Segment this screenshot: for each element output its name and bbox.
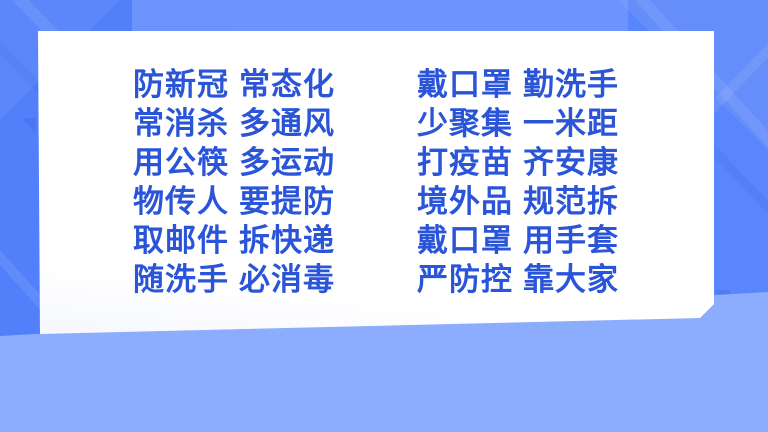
slogan-phrase: 靠大家	[523, 262, 619, 298]
slogan-phrase: 用手套	[523, 223, 619, 259]
slogan-phrase: 打疫苗	[417, 145, 513, 181]
slogan-left-column: 常消杀多通风	[128, 109, 340, 140]
slogan-phrase: 齐安康	[523, 145, 619, 181]
slogan-right-column: 少聚集一米距	[412, 109, 624, 140]
slogan-phrase: 多运动	[239, 145, 335, 181]
slogan-right-column: 境外品规范拆	[412, 187, 624, 218]
slogan-right-column: 戴口罩用手套	[412, 226, 624, 257]
slogan-phrase: 要提防	[239, 184, 335, 220]
slogan-phrase: 取邮件	[133, 223, 229, 259]
slogan-phrase: 戴口罩	[417, 67, 513, 103]
slogan-left-column: 物传人要提防	[128, 187, 340, 218]
slogan-left-column: 随洗手必消毒	[128, 265, 340, 296]
slogan-row: 物传人要提防 境外品规范拆	[38, 183, 714, 222]
slogan-row: 随洗手必消毒 严防控靠大家	[38, 261, 714, 300]
slogan-right-column: 戴口罩勤洗手	[412, 70, 624, 101]
slogan-phrase: 常态化	[239, 67, 335, 103]
slogan-right-column: 严防控靠大家	[412, 265, 624, 296]
poster-slide: 防新冠常态化 戴口罩勤洗手 常消杀多通风 少聚集一米距 用公筷多运动 打疫苗齐安…	[0, 0, 768, 432]
slogan-phrase: 拆快递	[239, 223, 335, 259]
slogan-left-column: 防新冠常态化	[128, 70, 340, 101]
slogan-phrase: 戴口罩	[417, 223, 513, 259]
slogan-phrase: 一米距	[523, 106, 619, 142]
slogan-phrase: 常消杀	[133, 106, 229, 142]
slogan-phrase: 防新冠	[133, 67, 229, 103]
slogan-phrase: 用公筷	[133, 145, 229, 181]
slogan-phrase: 随洗手	[133, 262, 229, 298]
slogan-row: 常消杀多通风 少聚集一米距	[38, 105, 714, 144]
slogan-left-column: 用公筷多运动	[128, 148, 340, 179]
slogan-phrase: 物传人	[133, 184, 229, 220]
slogan-phrase: 多通风	[239, 106, 335, 142]
slogan-phrase: 少聚集	[417, 106, 513, 142]
slogan-row: 用公筷多运动 打疫苗齐安康	[38, 144, 714, 183]
slogan-phrase: 勤洗手	[523, 67, 619, 103]
slogan-phrase: 规范拆	[523, 184, 619, 220]
slogan-phrase: 境外品	[417, 184, 513, 220]
slogan-right-column: 打疫苗齐安康	[412, 148, 624, 179]
slogan-row: 防新冠常态化 戴口罩勤洗手	[38, 66, 714, 105]
slogan-phrase: 严防控	[417, 262, 513, 298]
slogan-row: 取邮件拆快递 戴口罩用手套	[38, 222, 714, 261]
slogan-phrase: 必消毒	[239, 262, 335, 298]
slogan-left-column: 取邮件拆快递	[128, 226, 340, 257]
slogan-list: 防新冠常态化 戴口罩勤洗手 常消杀多通风 少聚集一米距 用公筷多运动 打疫苗齐安…	[38, 66, 714, 300]
